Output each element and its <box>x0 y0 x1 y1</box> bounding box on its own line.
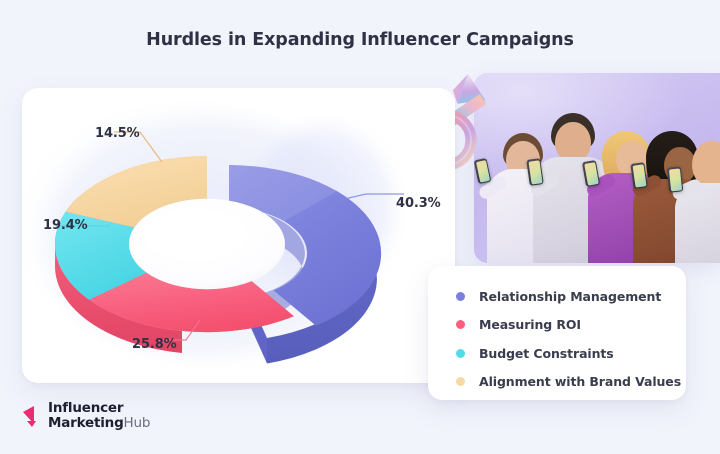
legend-swatch-icon <box>456 377 465 386</box>
legend-swatch-icon <box>456 292 465 301</box>
legend-label: Alignment with Brand Values <box>479 374 681 389</box>
legend-label: Budget Constraints <box>479 346 614 361</box>
legend-item-alignment-with-brand-values[interactable]: Alignment with Brand Values <box>428 368 686 397</box>
logo-marketing-text: Marketing <box>48 415 124 431</box>
legend-swatch-icon <box>456 349 465 358</box>
logo-wordmark: Influencer MarketingHub <box>48 402 150 430</box>
logo-line-2: MarketingHub <box>48 417 150 431</box>
infographic-canvas: Hurdles in Expanding Influencer Campaign… <box>0 0 720 454</box>
logo-hub-text: Hub <box>124 415 151 431</box>
photo-person-5 <box>670 135 720 263</box>
legend-item-budget-constraints[interactable]: Budget Constraints <box>428 339 686 368</box>
chart-card <box>22 88 455 383</box>
legend-item-measuring-roi[interactable]: Measuring ROI <box>428 311 686 340</box>
influencer-photo-card <box>474 73 720 263</box>
data-label-alignment-with-brand-values: 14.5% <box>95 126 140 141</box>
data-label-relationship-management: 40.3% <box>396 196 441 211</box>
legend-item-relationship-management[interactable]: Relationship Management <box>428 282 686 311</box>
legend-label: Measuring ROI <box>479 317 581 332</box>
chart-legend: Relationship Management Measuring ROI Bu… <box>428 266 686 400</box>
data-label-measuring-roi: 25.8% <box>132 337 177 352</box>
page-title: Hurdles in Expanding Influencer Campaign… <box>0 30 720 50</box>
legend-label: Relationship Management <box>479 289 661 304</box>
logo-line-1: Influencer <box>48 402 150 416</box>
chart-card-glow <box>22 88 455 383</box>
brand-logo[interactable]: Influencer MarketingHub <box>22 399 150 433</box>
legend-swatch-icon <box>456 320 465 329</box>
logo-arrow-icon <box>22 403 44 429</box>
data-label-budget-constraints: 19.4% <box>43 218 88 233</box>
